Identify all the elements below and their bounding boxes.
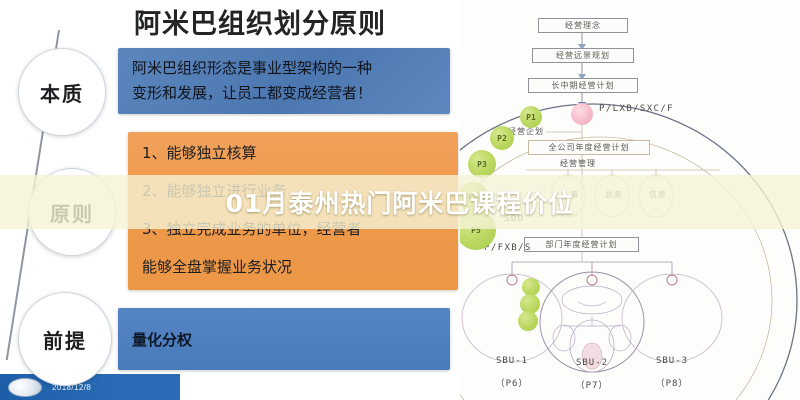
hub-node-icon <box>571 103 593 125</box>
node-p2-label: P2 <box>497 134 507 143</box>
essence-panel: 阿米巴组织形态是事业型架构的一种 变形和发展，让员工都变成经营者！ <box>118 48 450 114</box>
sbu2-code: （P7） <box>558 378 626 391</box>
label-dept-code: P/FXB/S <box>484 243 532 253</box>
flowbox-company-annual-label: 全公司年度经营计划 <box>549 142 630 153</box>
bubble-essence-label: 本质 <box>40 78 84 107</box>
flowbox-vision-plan-label: 经营远景规划 <box>556 50 610 61</box>
node-chain-3 <box>518 311 538 331</box>
node-p1-label: P1 <box>526 113 536 122</box>
essence-line-2: 变形和发展，让员工都变成经营者！ <box>132 81 436 106</box>
slide-screenshot: 阿米巴组织划分原则 本质 原则 前提 阿米巴组织形态是事业型架构的一种 变形和发… <box>0 0 800 400</box>
flowbox-dept-annual-label: 部门年度经营计划 <box>546 239 618 250</box>
flowbox-concept: 经营理念 <box>538 18 628 33</box>
flowbox-dept-annual: 部门年度经营计划 <box>524 237 639 252</box>
premise-panel: 量化分权 <box>118 308 450 370</box>
headline-overlay-text: 01月泰州热门阿米巴课程价位 <box>0 175 800 229</box>
bubble-premise: 前提 <box>18 292 112 386</box>
principle-item-3-line-2: 能够全盘掌握业务状况 <box>142 254 444 280</box>
company-logo-icon <box>8 378 42 397</box>
node-p3-label: P3 <box>477 160 487 169</box>
node-p1: P1 <box>520 106 542 128</box>
sbu3-code: （P8） <box>638 376 706 389</box>
bubble-premise-label: 前提 <box>43 325 87 354</box>
flowbox-vision-plan: 经营远景规划 <box>532 48 634 63</box>
flowbox-company-annual: 全公司年度经营计划 <box>528 140 650 155</box>
node-p2: P2 <box>490 126 514 150</box>
premise-text: 量化分权 <box>132 329 192 350</box>
essence-line-1: 阿米巴组织形态是事业型架构的一种 <box>132 56 436 81</box>
sbu1-code: （P6） <box>478 376 546 389</box>
sbu1-name: SBU-1 <box>478 356 546 366</box>
bubble-essence: 本质 <box>18 48 106 136</box>
flowbox-midlong-plan: 长中期经营计划 <box>528 78 638 93</box>
flowbox-midlong-plan-label: 长中期经营计划 <box>552 80 615 91</box>
principle-item-1: 1、能够独立核算 <box>142 140 444 166</box>
node-p3: P3 <box>468 150 496 178</box>
sbu2-name: SBU-2 <box>558 358 626 368</box>
label-top-code: P/LXB/SXC/F <box>599 104 674 114</box>
flowbox-concept-label: 经营理念 <box>565 20 601 31</box>
sbu3-name: SBU-3 <box>638 356 706 366</box>
label-biz-management: 经营管理 <box>560 158 596 169</box>
page-title: 阿米巴组织划分原则 <box>95 2 425 41</box>
